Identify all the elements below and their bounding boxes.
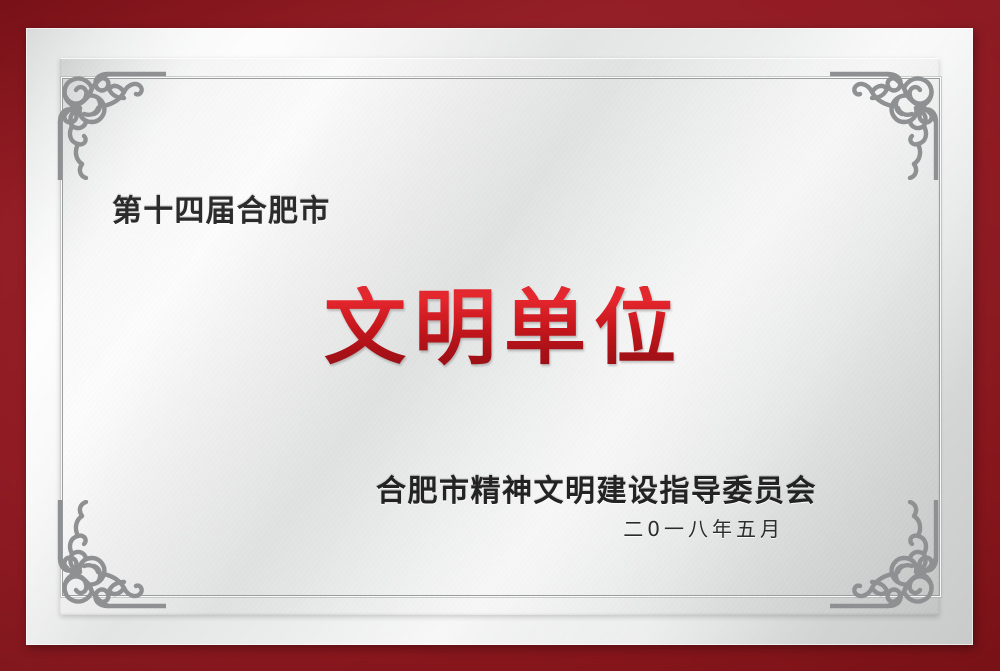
award-plaque: 第十四届合肥市 文明单位 合肥市精神文明建设指导委员会 二0一八年五月 (0, 0, 1000, 671)
metal-plate-inner-panel (60, 58, 939, 615)
metal-plate-outer-bevel (26, 28, 973, 645)
